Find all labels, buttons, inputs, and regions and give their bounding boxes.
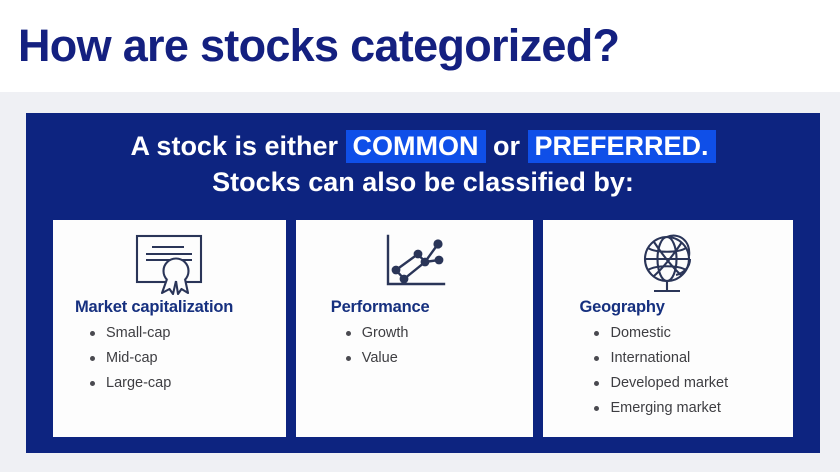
category-card-list: Market capitalization Small-cap Mid-cap …	[53, 220, 793, 437]
card-heading: Market capitalization	[75, 298, 286, 321]
category-card: Performance Growth Value	[296, 220, 534, 437]
title-bar: How are stocks categorized?	[0, 0, 840, 92]
list-item: International	[593, 346, 793, 371]
card-heading: Performance	[331, 298, 534, 321]
card-bullet-list: Domestic International Developed market …	[579, 321, 793, 421]
card-text-block: Performance Growth Value	[296, 298, 534, 371]
list-item: Mid-cap	[89, 346, 286, 371]
line-chart-icon	[296, 220, 534, 298]
headline-middle: or	[486, 131, 528, 161]
card-text-block: Geography Domestic International Develop…	[543, 298, 793, 421]
infographic-root: How are stocks categorized? A stock is e…	[0, 0, 840, 472]
highlight-common: COMMON	[346, 130, 486, 163]
certificate-icon	[53, 220, 286, 298]
list-item: Domestic	[593, 321, 793, 346]
list-item: Small-cap	[89, 321, 286, 346]
card-bullet-list: Growth Value	[331, 321, 534, 371]
card-text-block: Market capitalization Small-cap Mid-cap …	[53, 298, 286, 396]
headline-line-2: Stocks can also be classified by:	[26, 165, 820, 200]
globe-icon	[543, 220, 793, 298]
card-heading: Geography	[579, 298, 793, 321]
highlight-preferred: PREFERRED.	[528, 130, 716, 163]
headline-line-1: A stock is either COMMON or PREFERRED.	[26, 129, 820, 164]
page-title: How are stocks categorized?	[0, 21, 619, 71]
headline-prefix: A stock is either	[130, 131, 345, 161]
list-item: Emerging market	[593, 396, 793, 421]
list-item: Value	[345, 346, 534, 371]
list-item: Large-cap	[89, 371, 286, 396]
card-bullet-list: Small-cap Mid-cap Large-cap	[75, 321, 286, 396]
category-card: Geography Domestic International Develop…	[543, 220, 793, 437]
list-item: Growth	[345, 321, 534, 346]
list-item: Developed market	[593, 371, 793, 396]
category-card: Market capitalization Small-cap Mid-cap …	[53, 220, 286, 437]
content-panel: A stock is either COMMON or PREFERRED. S…	[26, 113, 820, 453]
